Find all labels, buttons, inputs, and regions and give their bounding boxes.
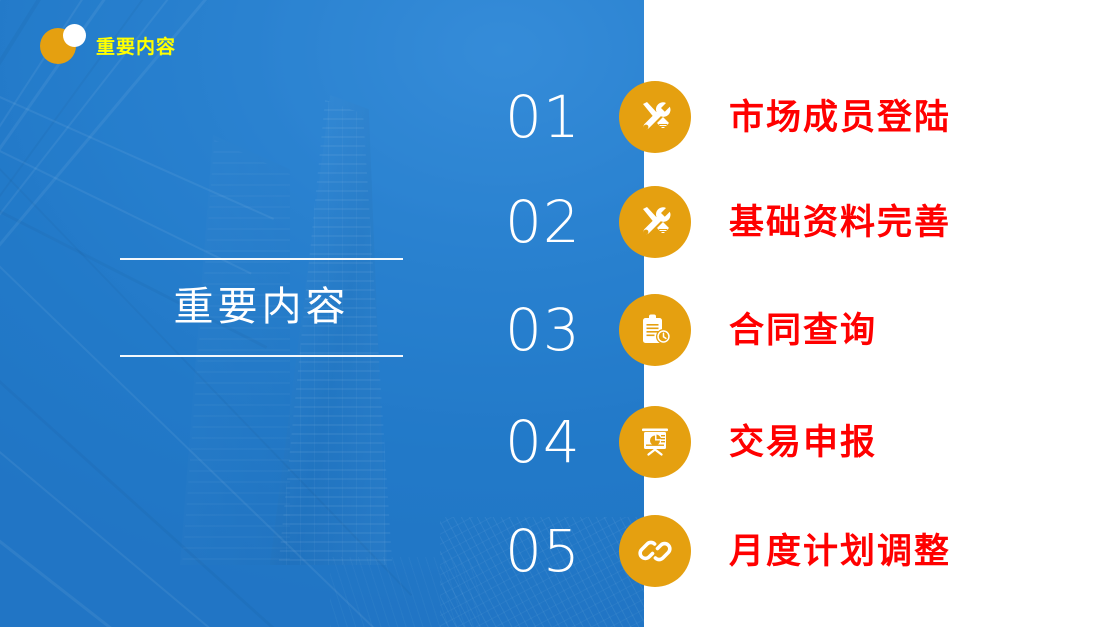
slide-root: 重要内容 重要内容 01 市场成员登陆: [0, 0, 1119, 627]
agenda-number-01: 01: [505, 88, 601, 146]
agenda-number-03: 03: [505, 301, 601, 359]
agenda-number-05: 05: [505, 522, 601, 580]
clipboard-clock-icon: [619, 294, 691, 366]
agenda-label-03: 合同查询: [729, 313, 877, 348]
agenda-label-01: 市场成员登陆: [729, 100, 951, 135]
agenda-label-05: 月度计划调整: [729, 534, 951, 569]
chain-link-icon: [619, 515, 691, 587]
agenda-item-03[interactable]: 03 合同查询: [505, 294, 877, 366]
agenda-label-04: 交易申报: [729, 425, 877, 460]
agenda-number-04: 04: [505, 413, 601, 471]
agenda-list: 01 市场成员登陆 02: [0, 0, 1119, 627]
agenda-item-04[interactable]: 04 交易申报: [505, 406, 877, 478]
tools-wrench-screwdriver-icon: [619, 186, 691, 258]
agenda-label-02: 基础资料完善: [729, 205, 951, 240]
tools-wrench-screwdriver-icon: [619, 81, 691, 153]
agenda-number-02: 02: [505, 193, 601, 251]
agenda-item-05[interactable]: 05 月度计划调整: [505, 515, 951, 587]
agenda-item-01[interactable]: 01 市场成员登陆: [505, 81, 951, 153]
agenda-item-02[interactable]: 02 基础资料完善: [505, 186, 951, 258]
presentation-chart-icon: [619, 406, 691, 478]
